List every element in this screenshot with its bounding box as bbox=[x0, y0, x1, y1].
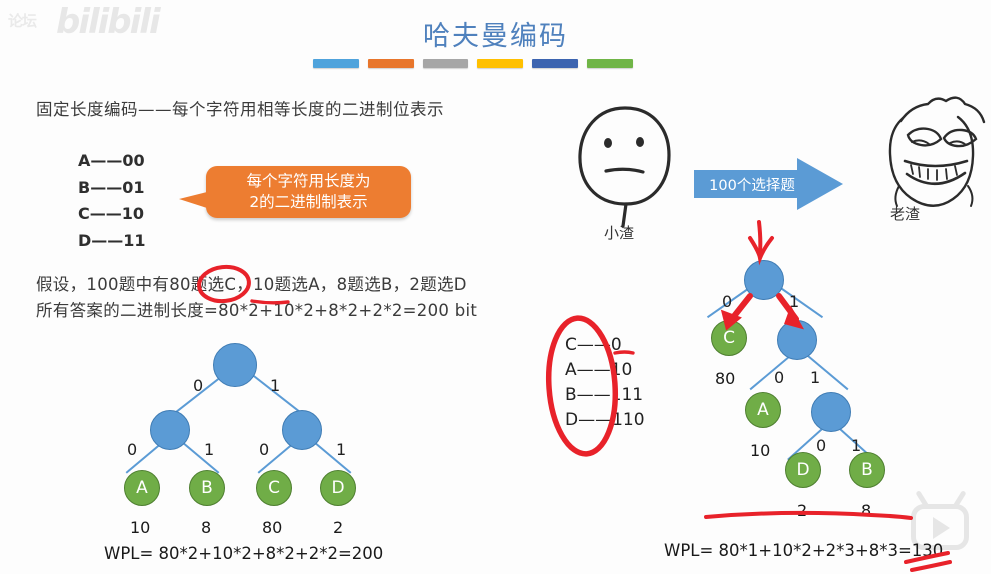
right-tree-edge-label-2: 1 bbox=[789, 292, 799, 311]
right-tree-leaf-a: A bbox=[745, 392, 781, 428]
title-bar-4 bbox=[477, 59, 523, 68]
title-bar-2 bbox=[368, 59, 414, 68]
huffman-code-a: A——10 bbox=[565, 358, 645, 383]
callout-line-2: 2的二进制制表示 bbox=[249, 192, 367, 213]
left-tree-edge-label-6: 1 bbox=[336, 440, 346, 459]
fixed-length-heading: 固定长度编码——每个字符用相等长度的二进制位表示 bbox=[36, 96, 444, 120]
orange-callout: 每个字符用长度为 2的二进制制表示 bbox=[206, 166, 411, 218]
left-tree-edge-label-4: 1 bbox=[204, 440, 214, 459]
right-tree-edge-in1-l bbox=[750, 355, 791, 390]
tv-ear-left-icon bbox=[915, 490, 929, 509]
right-tree-edge-label-5: 0 bbox=[816, 436, 826, 455]
huffman-code-d: D——110 bbox=[565, 408, 645, 433]
right-tree-inner-node-1 bbox=[777, 320, 817, 360]
huffman-code-list: C——0 A——10 B——111 D——110 bbox=[565, 333, 645, 433]
left-tree-edge-label-1: 0 bbox=[193, 376, 203, 395]
callout-tail-icon bbox=[179, 192, 207, 208]
right-tree-wpl-caption: WPL= 80*1+10*2+2*3+8*3=130 bbox=[664, 541, 943, 560]
code-item-d: D——11 bbox=[78, 228, 146, 255]
assumption-line-2: 所有答案的二进制长度=80*2+10*2+8*2+2*2=200 bit bbox=[36, 298, 477, 324]
assumption-line-1: 假设，100题中有80题选C，10题选A，8题选B，2题选D bbox=[36, 272, 477, 298]
slide-canvas: 论坛 bilibili 哈夫曼编码 固定长度编码——每个字符用相等长度的二进制位… bbox=[0, 0, 991, 574]
meme-face-neutral-icon bbox=[580, 108, 669, 226]
left-tree-edge-label-3: 0 bbox=[127, 440, 137, 459]
red-down-arrow-annotation bbox=[750, 222, 772, 258]
right-tree-leaf-c: C bbox=[711, 320, 747, 356]
left-tree-weight-a: 10 bbox=[130, 518, 150, 537]
right-tree-weight-a: 10 bbox=[750, 441, 770, 460]
left-tree-edge-label-5: 0 bbox=[259, 440, 269, 459]
right-tree-edge-label-1: 0 bbox=[722, 292, 732, 311]
assumption-paragraph: 假设，100题中有80题选C，10题选A，8题选B，2题选D 所有答案的二进制长… bbox=[36, 272, 477, 324]
right-tree-leaf-d: D bbox=[785, 452, 821, 488]
blue-arrow-100-questions: 100个选择题 bbox=[694, 158, 844, 210]
left-tree-leaf-d: D bbox=[320, 470, 356, 506]
huffman-code-c: C——0 bbox=[565, 333, 645, 358]
right-tree-weight-b: 8 bbox=[861, 501, 871, 520]
left-tree-leaf-a: A bbox=[124, 470, 160, 506]
left-tree-weight-d: 2 bbox=[333, 518, 343, 537]
left-tree-leaf-c: C bbox=[256, 470, 292, 506]
code-item-a: A——00 bbox=[78, 148, 146, 175]
left-tree-inner-node-right bbox=[282, 410, 322, 450]
left-tree-leaf-b: B bbox=[189, 470, 225, 506]
meme-right-label: 老渣 bbox=[890, 203, 920, 224]
right-tree-edge-label-3: 0 bbox=[774, 368, 784, 387]
right-tree-weight-d: 2 bbox=[797, 501, 807, 520]
left-tree-weight-b: 8 bbox=[201, 518, 211, 537]
left-tree-edge-label-2: 1 bbox=[270, 376, 280, 395]
red-underline-right-tree bbox=[706, 513, 911, 518]
title-color-bars bbox=[313, 59, 633, 68]
title-bar-6 bbox=[587, 59, 633, 68]
left-tree-root-node bbox=[213, 343, 257, 387]
code-item-c: C——10 bbox=[78, 201, 146, 228]
fixed-length-code-list: A——00 B——01 C——10 D——11 bbox=[78, 148, 146, 254]
huffman-code-b: B——111 bbox=[565, 383, 645, 408]
title-bar-1 bbox=[313, 59, 359, 68]
tv-ear-right-icon bbox=[952, 490, 966, 509]
right-tree-edge-label-6: 1 bbox=[851, 436, 861, 455]
blue-arrow-label: 100个选择题 bbox=[700, 174, 804, 195]
left-tree-weight-c: 80 bbox=[262, 518, 282, 537]
right-tree-leaf-b: B bbox=[849, 452, 885, 488]
title-bar-3 bbox=[423, 59, 469, 68]
right-tree-inner-node-2 bbox=[811, 392, 851, 432]
left-tree-inner-node-left bbox=[150, 410, 190, 450]
title-bar-5 bbox=[532, 59, 578, 68]
slide-title: 哈夫曼编码 bbox=[0, 14, 991, 53]
meme-left-label: 小渣 bbox=[604, 222, 634, 243]
right-tree-edge-label-4: 1 bbox=[810, 368, 820, 387]
code-item-b: B——01 bbox=[78, 175, 146, 202]
play-triangle-icon bbox=[933, 517, 950, 539]
right-tree-root-node bbox=[744, 260, 784, 300]
callout-line-1: 每个字符用长度为 bbox=[246, 171, 370, 192]
left-tree-wpl-caption: WPL= 80*2+10*2+8*2+2*2=200 bbox=[104, 544, 383, 563]
right-tree-weight-c: 80 bbox=[715, 369, 735, 388]
meme-face-troll-icon bbox=[890, 98, 984, 206]
